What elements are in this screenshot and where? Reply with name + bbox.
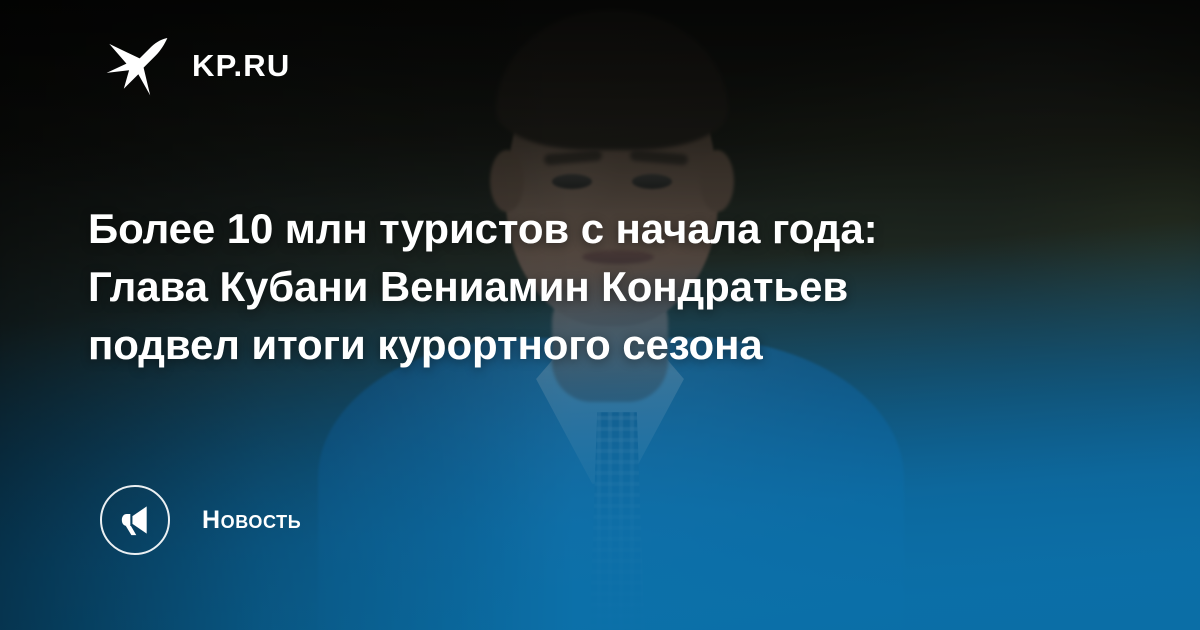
headline-line-2: Глава Кубани Вениамин Кондратьев <box>88 258 1068 316</box>
page-title: Более 10 млн туристов с начала года: Гла… <box>88 200 1068 374</box>
news-share-card: KP.RU Более 10 млн туристов с начала год… <box>0 0 1200 630</box>
brand-lockup[interactable]: KP.RU <box>104 32 290 98</box>
badge-label: Новость <box>202 506 301 535</box>
card-content: KP.RU Более 10 млн туристов с начала год… <box>0 0 1200 630</box>
status-badge: Новость <box>100 485 301 555</box>
swallow-bird-icon <box>104 32 170 98</box>
megaphone-icon <box>118 503 152 537</box>
headline-line-3: подвел итоги курортного сезона <box>88 316 1068 374</box>
badge-icon-circle <box>100 485 170 555</box>
brand-name: KP.RU <box>192 50 290 81</box>
headline-line-1: Более 10 млн туристов с начала года: <box>88 200 1068 258</box>
